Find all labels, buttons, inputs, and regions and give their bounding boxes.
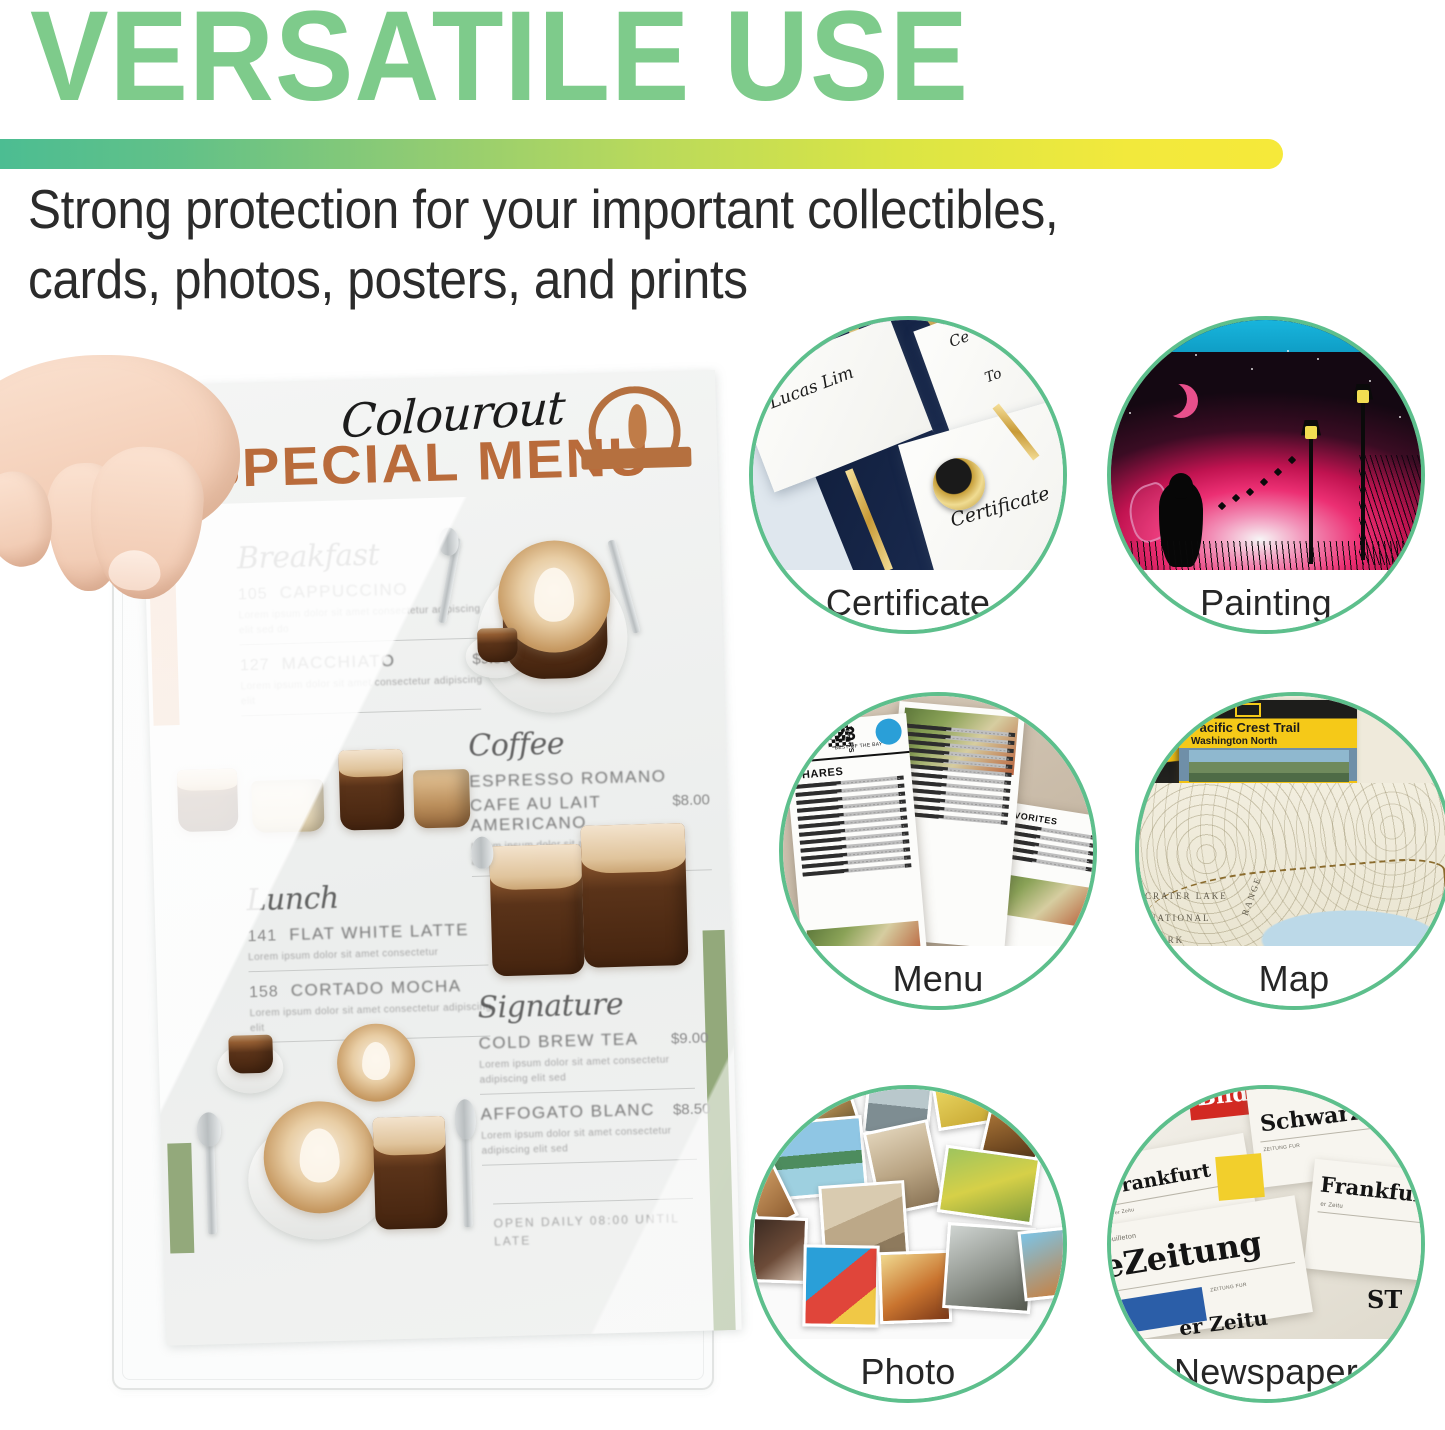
divider: [493, 1198, 693, 1205]
latte-glass-large-1: [489, 844, 585, 977]
glass-body: [338, 749, 404, 831]
spoon-head: [438, 527, 459, 556]
item-description: Lorem ipsum dolor sit amet consectetur a…: [479, 1051, 710, 1087]
menu-section-signature: Signature COLD BREW TEA $9.00 Lorem ipsu…: [477, 984, 712, 1175]
subtitle-line-2: cards, photos, posters, and prints: [28, 244, 1216, 314]
latte-glass-large-2: [581, 823, 689, 968]
menu-item-row: 141 FLAT WHITE LATTE: [247, 919, 517, 947]
menu-footer-text: OPEN DAILY 08:00 UNTIL LATE: [493, 1208, 714, 1250]
use-case-label: Newspaper: [1111, 1339, 1421, 1403]
newspaper-subtext: er Zeitu: [1320, 1202, 1343, 1210]
item-name: ESPRESSO ROMANO: [469, 766, 667, 792]
painting-artwork: [1111, 320, 1421, 575]
map-place-label: PARK: [1153, 935, 1184, 945]
divider: [248, 965, 488, 973]
gradient-divider: [0, 139, 1283, 169]
newspaper-subtext: ZEITUNG FUR: [1210, 1282, 1247, 1294]
photo-tile: [1017, 1227, 1063, 1302]
item-price: $9.00: [671, 1029, 709, 1047]
menu-item-row: COLD BREW TEA $9.00: [478, 1027, 708, 1053]
map-artwork: Pacific Crest Trail Washington North TRA…: [1139, 696, 1445, 951]
menu-artwork: FAVORITES SPECIALTIES 23 YEARS: [783, 696, 1093, 951]
menu-green-accent-left: [167, 1143, 194, 1254]
glass-body: [581, 823, 689, 968]
item-price: $8.50: [673, 1100, 711, 1118]
use-case-label: Painting: [1111, 570, 1421, 634]
trail-route: [1144, 855, 1445, 951]
latte-art-heart: [299, 1128, 341, 1183]
yellow-ad-block: [1215, 1153, 1265, 1201]
fork-head: [196, 1112, 221, 1147]
foam: [489, 844, 582, 891]
glass-body: [177, 768, 239, 832]
menu-item-row: AFFOGATO BLANC $8.50: [480, 1098, 710, 1124]
map-cover-photo: [1189, 750, 1349, 782]
newspaper-artwork: Bild Schwarzung ZEITUNG FUR Frankfurt er…: [1111, 1089, 1421, 1344]
item-number: 105: [238, 586, 268, 605]
item-name: FLAT WHITE LATTE: [289, 920, 469, 945]
fairy-head: [1169, 473, 1193, 499]
foam: [338, 749, 403, 778]
use-case-photo[interactable]: Photo: [749, 1085, 1067, 1403]
menu-sheet: Colourout SPECIAL MENU Breakfast 105 CAP…: [140, 370, 742, 1346]
spoon-head: [471, 836, 494, 869]
menu-footer: OPEN DAILY 08:00 UNTIL LATE: [493, 1192, 715, 1256]
thumb: [0, 464, 63, 574]
use-case-label: Map: [1139, 946, 1445, 1010]
dessert-block: [251, 779, 324, 833]
photo-tile: [878, 1250, 952, 1324]
espresso-body: [477, 628, 518, 663]
use-case-label: Photo: [753, 1339, 1063, 1403]
item-description: Lorem ipsum dolor sit amet consectetur a…: [238, 601, 489, 638]
newspaper-subtext: ZEITUNG FUR: [1263, 1143, 1300, 1153]
use-case-certificate[interactable]: Lucas Lim Ce To Certificate Certificate: [749, 316, 1067, 634]
map-place-label: NATIONAL: [1149, 913, 1211, 923]
topographic-map: CRATER LAKE NATIONAL PARK RANGE: [1139, 783, 1445, 951]
subtitle-line-1: Strong protection for your important col…: [28, 178, 1058, 240]
use-case-painting[interactable]: Painting: [1107, 316, 1425, 634]
section-heading: Signature: [477, 984, 708, 1025]
newspaper-sheet: Frankfurt er Zeitu: [1304, 1159, 1421, 1282]
item-number: 158: [249, 983, 279, 1002]
item-price: $8.00: [672, 791, 710, 809]
page-title: VERSATILE USE: [30, 0, 969, 124]
item-number: 127: [240, 657, 270, 676]
product-photo: Colourout SPECIAL MENU Breakfast 105 CAP…: [0, 330, 760, 1426]
glass-body: [489, 844, 585, 977]
divider: [480, 1088, 695, 1095]
section-heading: Lunch: [246, 876, 517, 919]
logo-ribbon: [581, 447, 692, 470]
espresso-body: [228, 1035, 273, 1074]
map-title: Pacific Crest Trail: [1191, 720, 1300, 735]
item-name: COLD BREW TEA: [478, 1029, 638, 1053]
lamp-glow: [1305, 426, 1317, 439]
item-description: Lorem ipsum dolor sit amet consectetur a…: [240, 672, 491, 709]
national-geographic-icon: [1235, 703, 1261, 717]
newspaper-masthead: Frankfurt: [1111, 1159, 1212, 1199]
foam: [581, 823, 686, 874]
page-subtitle: Strong protection for your important col…: [28, 174, 1216, 315]
item-description: Lorem ipsum dolor sit amet consectetur: [248, 943, 498, 965]
macchiato-glass: [373, 1116, 448, 1230]
section-heading: Coffee: [468, 722, 709, 764]
crescent-moon-icon: [1153, 382, 1187, 416]
coffee-glass: [177, 768, 239, 832]
section-heading: Breakfast: [236, 534, 507, 577]
foam: [373, 1116, 446, 1156]
glass-body: [373, 1116, 448, 1230]
use-case-label: Certificate: [753, 570, 1063, 634]
menu-item-row: 127 MACCHIATO $9.50: [240, 648, 510, 676]
lamp-glow: [1357, 390, 1369, 403]
newspaper-masthead: Schwarzung: [1259, 1093, 1411, 1137]
latte-art-heart: [533, 567, 575, 622]
item-description: Lorem ipsum dolor sit amet consectetur a…: [481, 1122, 712, 1158]
espresso-cup: [228, 1035, 273, 1074]
item-number: 141: [247, 927, 277, 946]
latte-art-rosetta: [361, 1042, 390, 1080]
divider: [482, 1159, 697, 1166]
use-case-grid: Lucas Lim Ce To Certificate Certificate: [735, 310, 1445, 1430]
menu-sheet-front: 23 YEARS BEST OF THE BAY SHARES: [783, 713, 927, 951]
espresso-cup: [477, 628, 518, 663]
photo-collage-artwork: [753, 1089, 1063, 1344]
divider: [239, 638, 479, 646]
use-case-newspaper[interactable]: Bild Schwarzung ZEITUNG FUR Frankfurt er…: [1107, 1085, 1425, 1403]
item-name: AFFOGATO BLANC: [480, 1100, 655, 1125]
photo-tile: [937, 1145, 1042, 1226]
map-place-label: CRATER LAKE: [1145, 891, 1228, 901]
divider: [241, 709, 481, 717]
item-name: CORTADO MOCHA: [290, 976, 461, 1001]
photo-tile: [753, 1216, 808, 1284]
foam: [177, 768, 238, 791]
menu-section-breakfast: Breakfast 105 CAPPUCCINO Lorem ipsum dol…: [236, 534, 511, 726]
menu-header: Colourout SPECIAL MENU: [140, 376, 718, 522]
restaurant-logo-badge: [791, 725, 823, 754]
layered-latte-glass: [338, 749, 404, 831]
newspaper-masthead: ST: [1367, 1285, 1402, 1314]
menu-item-row: 105 CAPPUCCINO: [238, 577, 508, 605]
cyan-strip: [1111, 320, 1421, 352]
painting-sky: [1111, 320, 1421, 575]
use-case-menu[interactable]: FAVORITES SPECIALTIES 23 YEARS: [779, 692, 1097, 1010]
newspaper-subtext: er Zeitu: [1115, 1207, 1135, 1216]
cortado-glass: [413, 769, 471, 829]
item-name: CAPPUCCINO: [279, 580, 408, 604]
glass-body: [413, 769, 471, 829]
photo-tile: [802, 1244, 879, 1327]
item-name: MACCHIATO: [281, 651, 395, 674]
use-case-map[interactable]: Pacific Crest Trail Washington North TRA…: [1135, 692, 1445, 1010]
dessert-body: [251, 779, 324, 833]
map-subtitle: Washington North: [1191, 736, 1277, 747]
menu-item-row: ESPRESSO ROMANO: [469, 765, 709, 792]
use-case-label: Menu: [783, 946, 1093, 1010]
certificate-artwork: Lucas Lim Ce To Certificate: [753, 320, 1063, 575]
